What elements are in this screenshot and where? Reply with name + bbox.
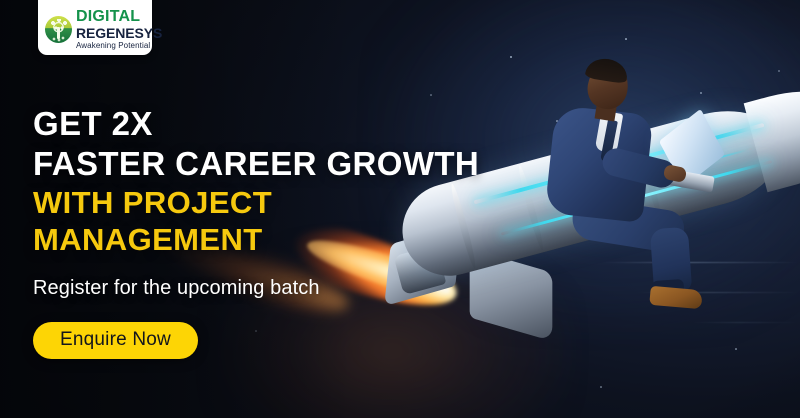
headline-line-3: WITH PROJECT <box>33 184 503 221</box>
banner-copy: GET 2X FASTER CAREER GROWTH WITH PROJECT… <box>33 104 503 359</box>
brand-tagline: Awakening Potential <box>76 42 162 50</box>
headline-line-4: MANAGEMENT <box>33 221 503 258</box>
promo-banner: DIGITAL REGENESYS Awakening Potential GE… <box>0 0 800 418</box>
headline-line-2: FASTER CAREER GROWTH <box>33 144 503 184</box>
enquire-now-button[interactable]: Enquire Now <box>33 322 198 359</box>
headline-line-1: GET 2X <box>33 104 503 144</box>
brand-name-primary: DIGITAL <box>76 9 162 25</box>
brand-name-secondary: REGENESYS <box>76 26 162 40</box>
brand-logo-wordmark: DIGITAL REGENESYS Awakening Potential <box>76 9 162 50</box>
tree-circle-icon <box>45 16 72 43</box>
brand-logo[interactable]: DIGITAL REGENESYS Awakening Potential <box>38 0 152 55</box>
banner-subtitle: Register for the upcoming batch <box>33 275 503 301</box>
